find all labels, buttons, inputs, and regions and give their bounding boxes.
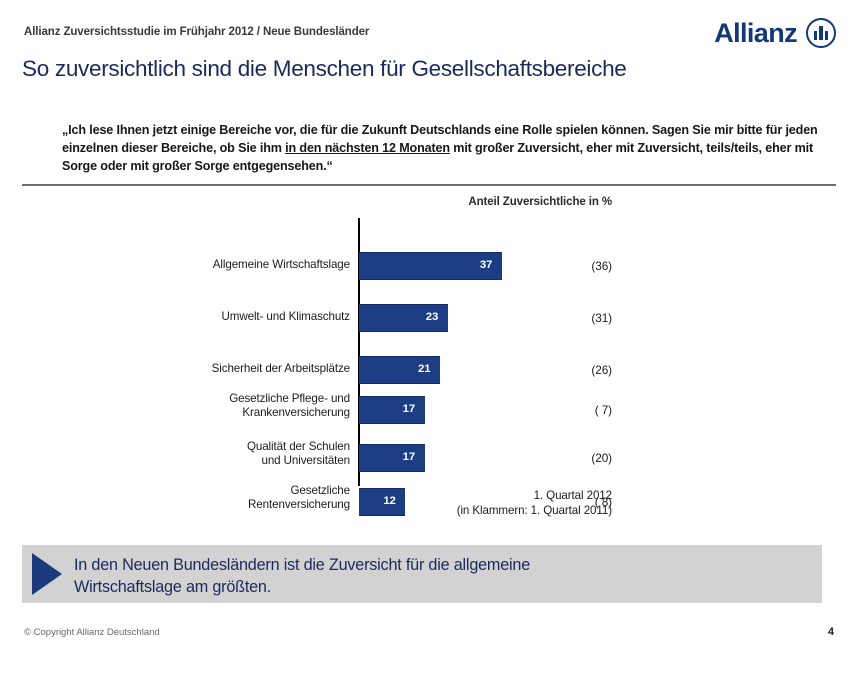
chart-footnotes: 1. Quartal 2012 (in Klammern: 1. Quartal… [0, 488, 612, 519]
logo-bar-center [819, 26, 822, 40]
chart-category-label-line: Allgemeine Wirtschaftslage [120, 258, 350, 272]
chart-previous-value: ( 7) [500, 403, 612, 417]
logo-bar-right [825, 31, 828, 40]
chart-category-label: Gesetzliche Pflege- undKrankenversicheru… [120, 392, 350, 420]
chart-category-label: Sicherheit der Arbeitsplätze [120, 362, 350, 376]
chart-category-label: Umwelt- und Klimaschutz [120, 310, 350, 324]
chart-divider [22, 184, 836, 186]
chart-plot-area: Allgemeine Wirtschaftslage37(36)Umwelt- … [0, 218, 858, 486]
footer-copyright: © Copyright Allianz Deutschland [24, 627, 160, 638]
logo-bar-left [814, 31, 817, 40]
chart-category-label-line: Sicherheit der Arbeitsplätze [120, 362, 350, 376]
chart-bar-row: Sicherheit der Arbeitsplätze21(26) [0, 356, 858, 384]
footnote-previous-quarter: (in Klammern: 1. Quartal 2011) [0, 503, 612, 518]
callout-banner: In den Neuen Bundesländern ist die Zuver… [22, 545, 822, 603]
chart-axis-title: Anteil Zuversichtliche in % [0, 196, 612, 208]
chart-category-label-line: Krankenversicherung [120, 406, 350, 420]
chart-category-label: Allgemeine Wirtschaftslage [120, 258, 350, 272]
chart-bar-value: 17 [403, 403, 415, 415]
chart-bar-row: Gesetzliche Pflege- undKrankenversicheru… [0, 396, 858, 424]
header-eyebrow: Allianz Zuversichtsstudie im Frühjahr 20… [24, 26, 369, 38]
chart-category-label-line: Umwelt- und Klimaschutz [120, 310, 350, 324]
footnote-current-quarter: 1. Quartal 2012 [0, 488, 612, 503]
chart-bar-value: 17 [403, 451, 415, 463]
chart-category-label-line: und Universitäten [120, 454, 350, 468]
chart-previous-value: (36) [500, 259, 612, 273]
callout-line-1: In den Neuen Bundesländern ist die Zuver… [74, 554, 809, 576]
allianz-eagle-icon [806, 18, 836, 48]
chart-category-label: Qualität der Schulenund Universitäten [120, 440, 350, 468]
chart-previous-value: (20) [500, 451, 612, 465]
chart-previous-value: (26) [500, 363, 612, 377]
allianz-logo: Allianz [714, 18, 836, 48]
page-title: So zuversichtlich sind die Menschen für … [22, 56, 627, 82]
callout-arrow-icon [32, 553, 62, 595]
chart-bar-value: 23 [426, 311, 438, 323]
footer-page-number: 4 [828, 626, 834, 638]
chart-bar-row: Umwelt- und Klimaschutz23(31) [0, 304, 858, 332]
survey-question: „Ich lese Ihnen jetzt einige Bereiche vo… [62, 122, 832, 176]
bar-chart: Anteil Zuversichtliche in % Allgemeine W… [0, 192, 858, 532]
chart-bar-row: Allgemeine Wirtschaftslage37(36) [0, 252, 858, 280]
allianz-wordmark: Allianz [714, 20, 797, 47]
chart-previous-value: (31) [500, 311, 612, 325]
callout-line-2: Wirtschaftslage am größten. [74, 576, 809, 598]
callout-text: In den Neuen Bundesländern ist die Zuver… [74, 554, 809, 598]
chart-bar-row: Qualität der Schulenund Universitäten17(… [0, 444, 858, 472]
chart-bar-value: 37 [480, 259, 492, 271]
chart-category-label-line: Gesetzliche Pflege- und [120, 392, 350, 406]
chart-bar-value: 21 [418, 363, 430, 375]
question-underlined-phrase: in den nächsten 12 Monaten [285, 141, 450, 155]
chart-category-label-line: Qualität der Schulen [120, 440, 350, 454]
